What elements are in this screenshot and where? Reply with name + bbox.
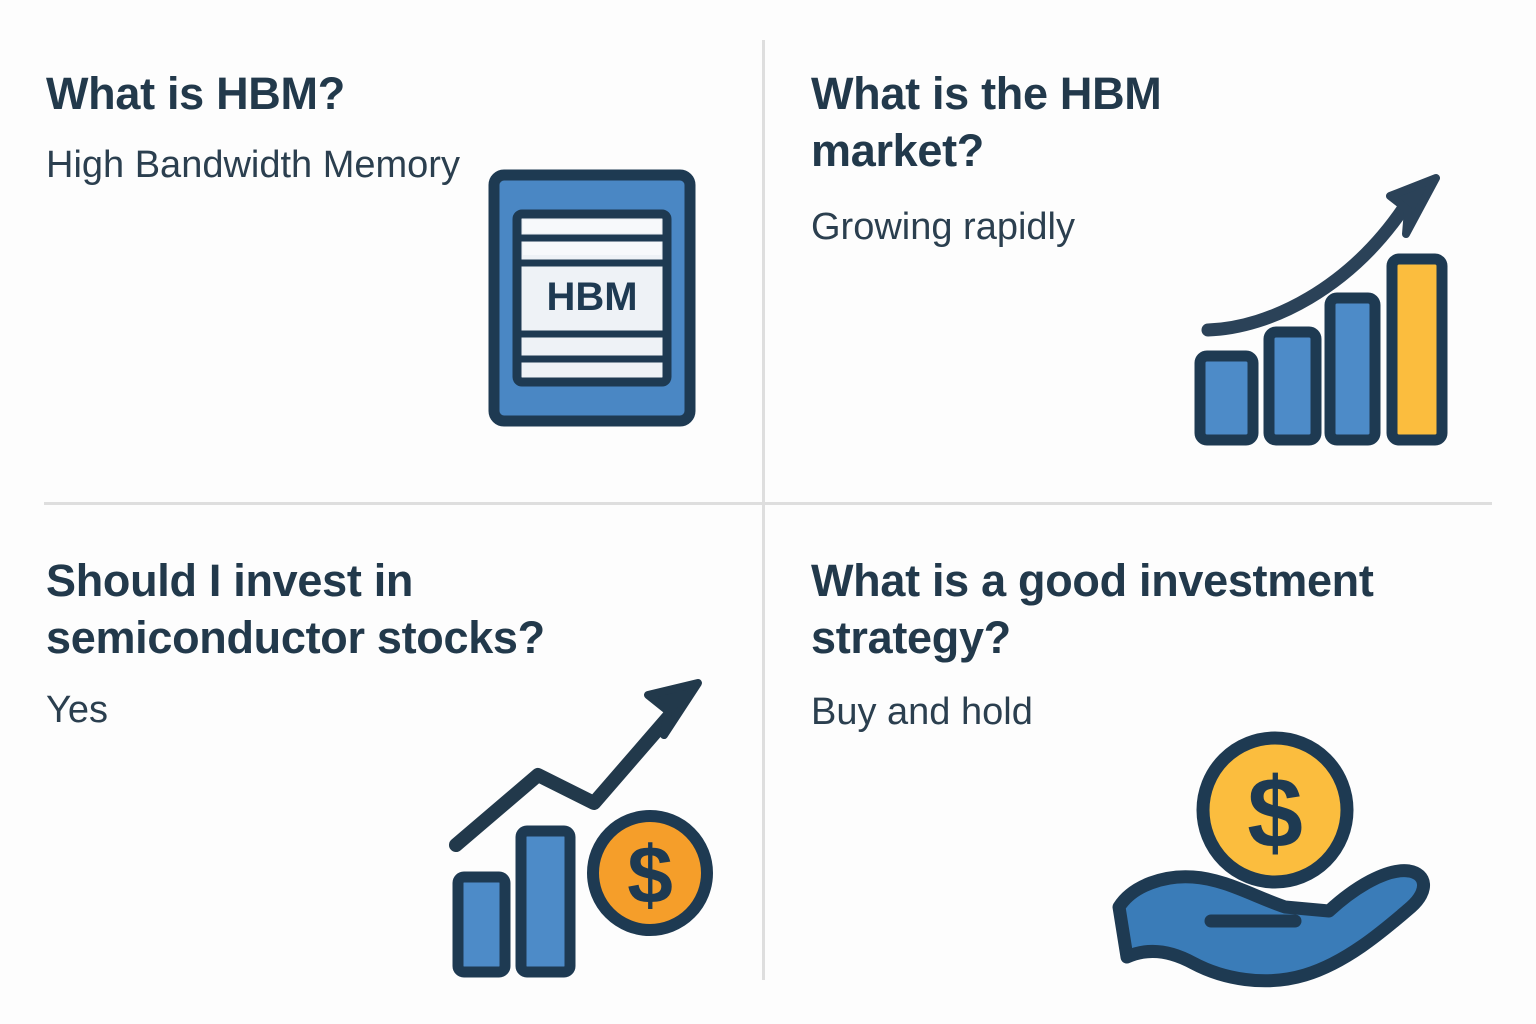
rising-bar-chart-arrow-icon [1190, 160, 1480, 460]
panel-title: Should I invest in semiconductor stocks? [46, 553, 666, 666]
hbm-memory-chip-icon: HBM [487, 168, 697, 428]
hbm-investment-infographic: What is HBM? High Bandwidth Memory HBM W… [0, 0, 1536, 1024]
chip-label: HBM [546, 275, 637, 319]
panel-text-block: What is HBM? High Bandwidth Memory [46, 66, 460, 190]
panel-text-block: What is a good investment strategy? Buy … [811, 553, 1511, 738]
panel-text-block: What is the HBM market? Growing rapidly [811, 66, 1241, 253]
panel-what-is-hbm: What is HBM? High Bandwidth Memory HBM [0, 0, 762, 502]
panel-hbm-market: What is the HBM market? Growing rapidly [765, 0, 1536, 502]
panel-subtitle: High Bandwidth Memory [46, 141, 460, 190]
panel-title: What is the HBM market? [811, 66, 1241, 179]
panel-subtitle: Growing rapidly [811, 203, 1091, 252]
dollar-sign-glyph: $ [1247, 757, 1303, 869]
panel-semiconductor-stocks: Should I invest in semiconductor stocks?… [0, 505, 762, 1024]
hand-holding-dollar-coin-icon: $ [1105, 725, 1445, 995]
dollar-sign-glyph: $ [627, 830, 673, 921]
stock-growth-dollar-coin-icon: $ [440, 665, 730, 985]
panel-title: What is HBM? [46, 66, 460, 123]
panel-title: What is a good investment strategy? [811, 553, 1511, 666]
panel-subtitle: Yes [46, 686, 476, 735]
panel-subtitle: Buy and hold [811, 688, 1071, 737]
panel-investment-strategy: What is a good investment strategy? Buy … [765, 505, 1536, 1024]
